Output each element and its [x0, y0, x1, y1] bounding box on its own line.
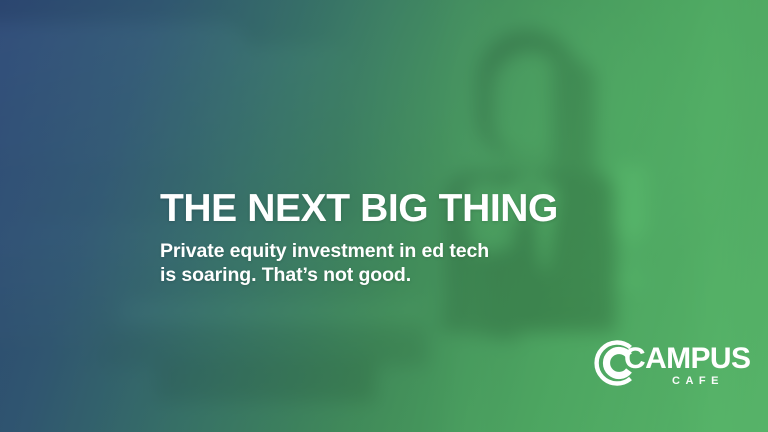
subtitle-line-2: is soaring. That’s not good. — [160, 263, 489, 287]
promo-banner: THE NEXT BIG THING Private equity invest… — [0, 0, 768, 432]
logo-tagline: CAFE — [624, 376, 724, 387]
subtitle: Private equity investment in ed tech is … — [160, 239, 489, 287]
logo-lockup[interactable]: CAMPUS CAFE — [586, 336, 726, 394]
page-title: THE NEXT BIG THING — [160, 189, 558, 228]
logo-wordmark: CAMPUS — [624, 344, 750, 374]
subtitle-line-1: Private equity investment in ed tech — [160, 239, 489, 263]
